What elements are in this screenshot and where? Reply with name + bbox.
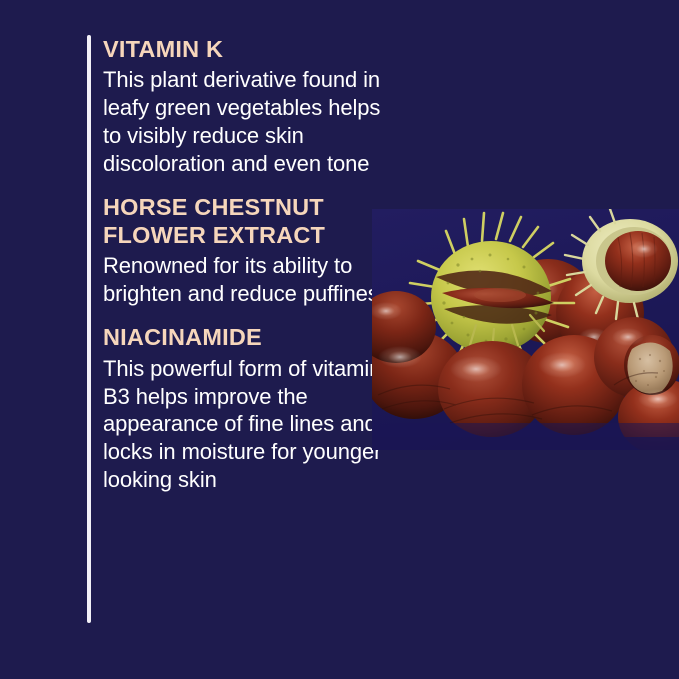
ingredients-text-column: VITAMIN K This plant derivative found in… bbox=[103, 36, 403, 494]
ingredient-block-vitamin-k: VITAMIN K This plant derivative found in… bbox=[103, 36, 403, 178]
ingredient-description: Renowned for its ability to brighten and… bbox=[103, 252, 403, 308]
vertical-divider bbox=[87, 35, 91, 623]
ingredient-description: This plant derivative found in leafy gre… bbox=[103, 66, 403, 178]
horse-chestnut-photo bbox=[372, 209, 679, 450]
ingredient-block-horse-chestnut-flower-extract: HORSE CHESTNUT FLOWER EXTRACT Renowned f… bbox=[103, 194, 403, 308]
ingredients-panel: INGREDIENTS VITAMIN K This plant derivat… bbox=[0, 0, 679, 679]
horse-chestnut-illustration bbox=[372, 209, 679, 450]
ingredient-block-niacinamide: NIACINAMIDE This powerful form of vitami… bbox=[103, 324, 403, 494]
ingredient-description: This powerful form of vitamin B3 helps i… bbox=[103, 355, 403, 495]
ingredient-heading: HORSE CHESTNUT FLOWER EXTRACT bbox=[103, 194, 403, 249]
ingredient-heading: NIACINAMIDE bbox=[103, 324, 403, 351]
ingredient-heading: VITAMIN K bbox=[103, 36, 403, 63]
